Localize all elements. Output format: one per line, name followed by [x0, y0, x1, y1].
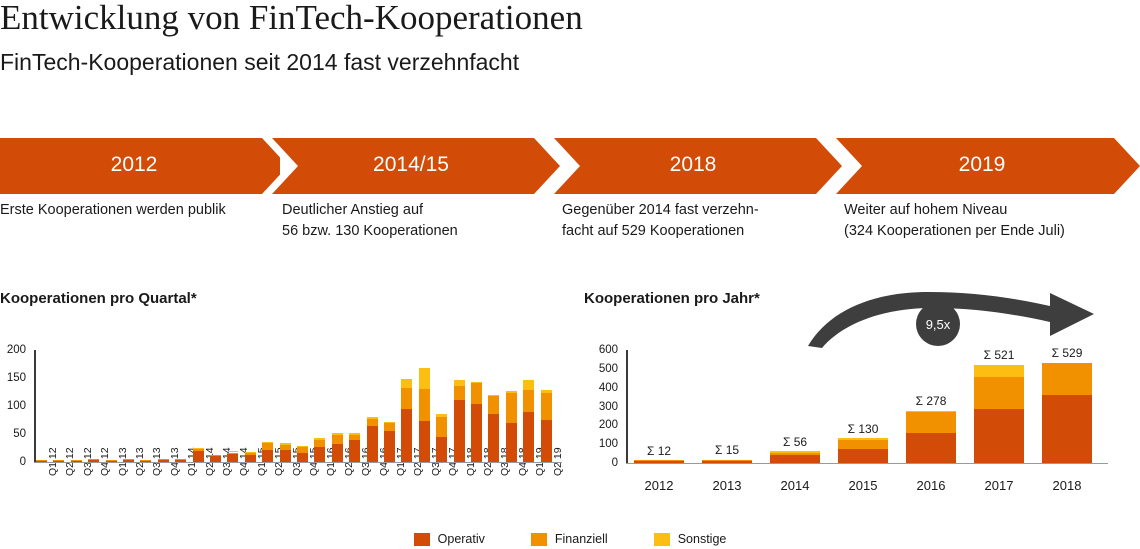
bar-segment-operativ	[906, 433, 956, 463]
chart-legend: Operativ Finanziell Sonstige	[0, 530, 1140, 548]
legend-swatch-operativ	[414, 533, 430, 546]
bar	[488, 395, 499, 462]
bar-segment-finanziell	[488, 396, 499, 414]
bar-segment-operativ	[332, 444, 343, 462]
bar-segment-operativ	[262, 450, 273, 462]
timeline-desc-2: Gegenüber 2014 fast verzehn- facht auf 5…	[562, 200, 838, 242]
bar-segment-operativ	[838, 449, 888, 463]
bar	[541, 390, 552, 462]
bar-segment-finanziell	[36, 460, 47, 461]
bar-segment-sonstige	[419, 368, 430, 389]
bar	[314, 438, 325, 462]
bar-segment-sonstige	[436, 414, 447, 416]
bar-segment-sonstige	[488, 395, 499, 396]
x-axis-tick: 2018	[1027, 478, 1107, 493]
yearly-chart-title: Kooperationen pro Jahr*	[584, 290, 760, 307]
bar-segment-sonstige	[227, 451, 238, 452]
y-axis-tick: 600	[584, 344, 618, 356]
legend-swatch-sonstige	[654, 533, 670, 546]
bar-segment-sonstige	[280, 443, 291, 444]
y-axis-tick: 200	[584, 419, 618, 431]
growth-arrow: 9,5x	[806, 286, 1106, 348]
bar-segment-operativ	[488, 414, 499, 462]
bar-segment-finanziell	[506, 393, 517, 423]
bar	[367, 417, 378, 462]
bar	[419, 368, 430, 462]
bar-segment-sonstige	[906, 411, 956, 413]
legend-label-sonstige: Sonstige	[678, 532, 727, 546]
bar-segment-operativ	[419, 421, 430, 462]
y-axis-tick: 100	[584, 438, 618, 450]
bar-segment-operativ	[193, 451, 204, 462]
bar-segment-sonstige	[314, 438, 325, 439]
bar-segment-finanziell	[523, 390, 534, 412]
quarterly-chart: Q1 12Q2 12Q3 12Q4 12Q1 13Q2 13Q3 13Q4 13…	[0, 340, 570, 545]
y-axis-line	[626, 350, 628, 463]
bar-segment-finanziell	[1042, 363, 1092, 395]
bar-segment-finanziell	[471, 383, 482, 404]
bar-segment-operativ	[280, 450, 291, 462]
timeline-year-3: 2019	[959, 153, 1006, 177]
y-axis-tick: 150	[0, 372, 26, 384]
bar-segment-finanziell	[245, 453, 256, 455]
bar-segment-operativ	[471, 404, 482, 462]
bar-segment-sonstige	[471, 382, 482, 383]
bar	[523, 380, 534, 462]
bar-segment-finanziell	[634, 460, 684, 461]
bar-segment-finanziell	[53, 460, 64, 461]
y-axis-tick: 500	[584, 363, 618, 375]
bar-segment-sonstige	[332, 433, 343, 434]
bar-segment-operativ	[770, 455, 820, 463]
legend-label-operativ: Operativ	[438, 532, 485, 546]
bar	[245, 452, 256, 462]
bar-segment-operativ	[227, 454, 238, 462]
y-axis-tick: 50	[0, 428, 26, 440]
bar-segment-finanziell	[454, 386, 465, 401]
bar-segment-finanziell	[384, 423, 395, 431]
x-axis-line	[626, 463, 1108, 464]
bar-segment-finanziell	[419, 389, 430, 421]
y-axis-line	[34, 350, 36, 462]
bar	[227, 452, 238, 462]
bar-segment-operativ	[974, 409, 1024, 463]
bar-segment-sonstige	[541, 390, 552, 393]
bar	[332, 433, 343, 462]
bar	[906, 411, 956, 463]
bar-segment-operativ	[349, 440, 360, 462]
bar-segment-operativ	[506, 423, 517, 462]
timeline-year-0: 2012	[111, 153, 158, 177]
y-axis-tick: 100	[0, 400, 26, 412]
y-axis-tick: 0	[584, 457, 618, 469]
bar	[384, 422, 395, 462]
bar-segment-sonstige	[367, 417, 378, 419]
bar	[401, 379, 412, 462]
bar	[974, 365, 1024, 463]
legend-item-sonstige: Sonstige	[654, 532, 727, 546]
page-title: Entwicklung von FinTech-Kooperationen	[0, 0, 583, 38]
bar-segment-finanziell	[906, 412, 956, 433]
bar-segment-finanziell	[436, 417, 447, 438]
bar-segment-sonstige	[974, 365, 1024, 377]
bar-segment-finanziell	[401, 388, 412, 409]
bar-segment-sonstige	[245, 452, 256, 453]
bar	[193, 449, 204, 462]
y-axis-tick: 300	[584, 401, 618, 413]
bar	[280, 444, 291, 462]
growth-factor-label: 9,5x	[926, 317, 951, 332]
bar-total-label: Σ 56	[755, 435, 835, 449]
bar	[838, 439, 888, 463]
page-subtitle: FinTech-Kooperationen seit 2014 fast ver…	[0, 48, 519, 76]
infographic-page: Entwicklung von FinTech-Kooperationen Fi…	[0, 0, 1140, 549]
bar	[454, 380, 465, 462]
legend-item-finanziell: Finanziell	[531, 532, 608, 546]
bar-segment-operativ	[541, 420, 552, 462]
timeline-desc-1: Deutlicher Anstieg auf 56 bzw. 130 Koope…	[282, 200, 552, 242]
y-axis-tick: 200	[0, 344, 26, 356]
growth-factor-badge: 9,5x	[916, 302, 960, 346]
legend-item-operativ: Operativ	[414, 532, 485, 546]
timeline-banner: 2012 2014/15 2018 2019	[0, 138, 1140, 194]
bar-segment-finanziell	[838, 440, 888, 449]
bar	[770, 452, 820, 463]
bar-segment-finanziell	[314, 440, 325, 448]
bar-segment-sonstige	[523, 380, 534, 390]
bar-segment-operativ	[454, 400, 465, 462]
bar-segment-finanziell	[367, 419, 378, 426]
bar-segment-sonstige	[770, 451, 820, 452]
bar-segment-sonstige	[401, 379, 412, 388]
bar-segment-sonstige	[262, 442, 273, 443]
bar-segment-finanziell	[297, 447, 308, 453]
bar-segment-sonstige	[349, 433, 360, 434]
yearly-plot-area: 2012Σ 122013Σ 152014Σ 562015Σ 1302016Σ 2…	[634, 350, 1124, 463]
bar-total-label: Σ 529	[1027, 346, 1107, 360]
bar	[471, 382, 482, 462]
bar-segment-operativ	[523, 412, 534, 462]
bar	[210, 455, 221, 462]
bar-segment-sonstige	[454, 380, 465, 386]
timeline-chevron-2: 2018	[554, 138, 844, 194]
bar-segment-operativ	[1042, 395, 1092, 463]
bar-segment-finanziell	[541, 393, 552, 420]
yearly-chart: 2012Σ 122013Σ 152014Σ 562015Σ 1302016Σ 2…	[584, 340, 1140, 545]
bar-segment-finanziell	[210, 455, 221, 456]
bar-segment-finanziell	[158, 459, 169, 460]
y-axis-tick: 400	[584, 382, 618, 394]
bar	[297, 446, 308, 462]
bar	[262, 442, 273, 462]
bar-segment-finanziell	[702, 460, 752, 461]
bar-segment-finanziell	[262, 443, 273, 450]
quarterly-chart-title: Kooperationen pro Quartal*	[0, 290, 197, 307]
timeline-desc-0: Erste Kooperationen werden publik	[0, 200, 270, 221]
timeline-chevron-0: 2012	[0, 138, 280, 194]
legend-label-finanziell: Finanziell	[555, 532, 608, 546]
bar-segment-finanziell	[974, 377, 1024, 409]
bar-segment-sonstige	[193, 448, 204, 449]
bar	[349, 433, 360, 462]
bar-segment-operativ	[436, 437, 447, 462]
bar-segment-sonstige	[506, 391, 517, 393]
timeline-year-1: 2014/15	[373, 153, 449, 177]
quarterly-plot-area: Q1 12Q2 12Q3 12Q4 12Q1 13Q2 13Q3 13Q4 13…	[36, 350, 558, 462]
bar-total-label: Σ 130	[823, 422, 903, 436]
x-axis-line	[34, 462, 562, 463]
bar	[1042, 363, 1092, 463]
bar-segment-finanziell	[349, 435, 360, 440]
bar-segment-operativ	[384, 431, 395, 462]
bar-segment-finanziell	[140, 460, 151, 461]
legend-swatch-finanziell	[531, 533, 547, 546]
bar-segment-operativ	[401, 409, 412, 462]
bar-segment-sonstige	[384, 422, 395, 423]
bar-segment-sonstige	[297, 446, 308, 447]
timeline-desc-3: Weiter auf hohem Niveau (324 Kooperation…	[844, 200, 1140, 242]
bar	[506, 391, 517, 462]
timeline-chevron-3: 2019	[836, 138, 1140, 194]
bar-segment-finanziell	[175, 459, 186, 460]
bar-segment-finanziell	[123, 459, 134, 460]
bar-segment-operativ	[245, 455, 256, 462]
bar-segment-operativ	[314, 447, 325, 462]
bar-segment-operativ	[367, 426, 378, 462]
timeline-year-2: 2018	[670, 153, 717, 177]
bar-segment-operativ	[297, 453, 308, 462]
bar-segment-finanziell	[770, 453, 820, 455]
bar	[436, 414, 447, 462]
bar-segment-sonstige	[838, 438, 888, 439]
timeline-chevron-1: 2014/15	[272, 138, 562, 194]
bar-segment-finanziell	[88, 459, 99, 460]
bar-segment-finanziell	[280, 445, 291, 450]
bar-total-label: Σ 278	[891, 394, 971, 408]
bar-segment-finanziell	[332, 435, 343, 444]
y-axis-tick: 0	[0, 456, 26, 468]
bar-segment-finanziell	[193, 449, 204, 451]
bar-segment-finanziell	[227, 453, 238, 455]
